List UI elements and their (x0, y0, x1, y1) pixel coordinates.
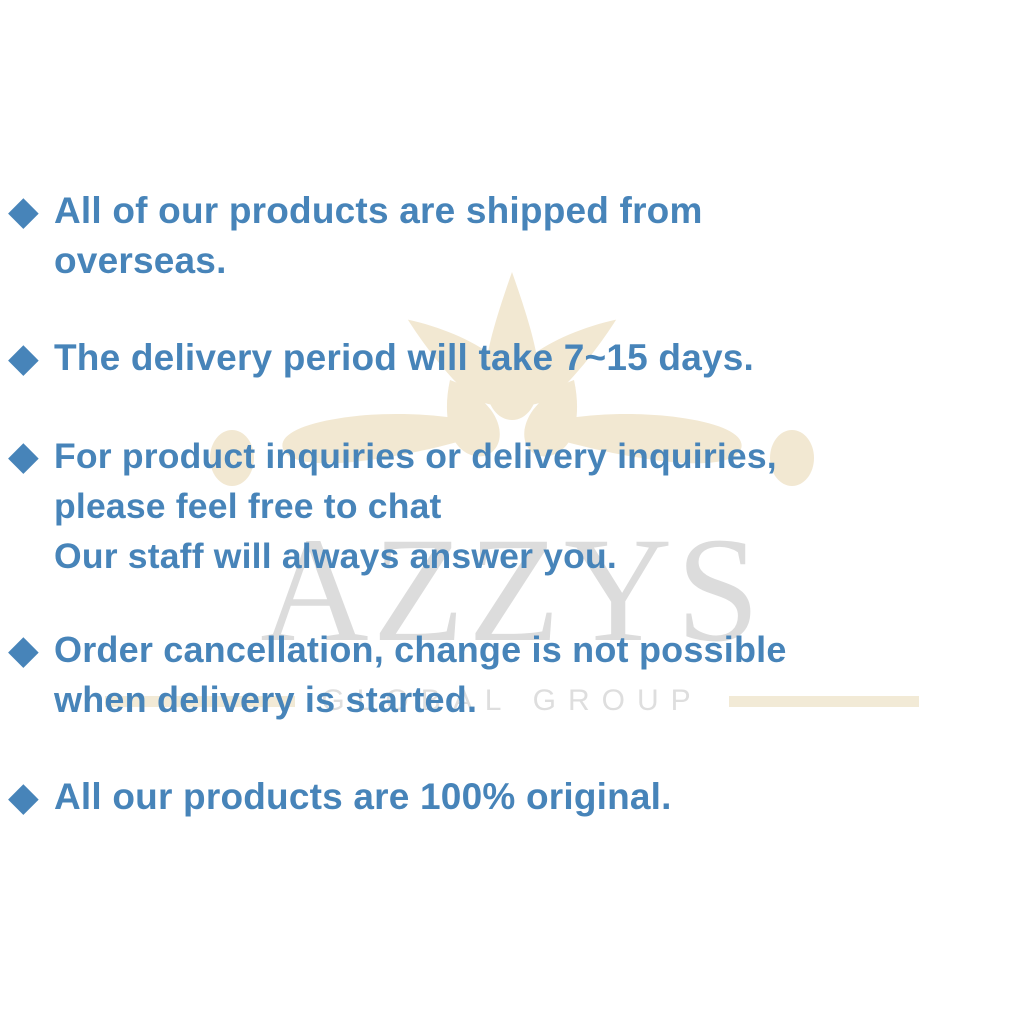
text-line: All of our products are shipped from (54, 186, 1018, 236)
text-line: when delivery is started. (54, 675, 1018, 725)
diamond-bullet-icon: ◆ (8, 186, 54, 236)
diamond-bullet-icon: ◆ (8, 625, 54, 675)
text-line: Our staff will always answer you. (54, 531, 1018, 581)
list-item-text: For product inquiries or delivery inquir… (54, 431, 1018, 581)
text-line: please feel free to chat (54, 481, 1018, 531)
diamond-bullet-icon: ◆ (8, 772, 54, 822)
diamond-bullet-icon: ◆ (8, 333, 54, 383)
list-item-text: Order cancellation, change is not possib… (54, 625, 1018, 725)
list-item: ◆ All of our products are shipped from o… (8, 186, 1018, 286)
text-line: The delivery period will take 7~15 days. (54, 333, 1018, 383)
list-item-text: All our products are 100% original. (54, 772, 1018, 822)
list-item: ◆ The delivery period will take 7~15 day… (8, 333, 1018, 383)
list-item: ◆ All our products are 100% original. (8, 772, 1018, 822)
list-item-text: All of our products are shipped from ove… (54, 186, 1018, 286)
content-layer: ◆ All of our products are shipped from o… (0, 0, 1024, 1024)
list-item: ◆ Order cancellation, change is not poss… (8, 625, 1018, 725)
list-item-text: The delivery period will take 7~15 days. (54, 333, 1018, 383)
list-item: ◆ For product inquiries or delivery inqu… (8, 431, 1018, 581)
diamond-bullet-icon: ◆ (8, 431, 54, 481)
text-line: For product inquiries or delivery inquir… (54, 431, 1018, 481)
notice-banner: AZZYS GLOBAL GROUP ◆ All of our products… (0, 0, 1024, 1024)
text-line: Order cancellation, change is not possib… (54, 625, 1018, 675)
text-line: overseas. (54, 236, 1018, 286)
text-line: All our products are 100% original. (54, 772, 1018, 822)
policy-bullet-list: ◆ All of our products are shipped from o… (8, 186, 1018, 822)
